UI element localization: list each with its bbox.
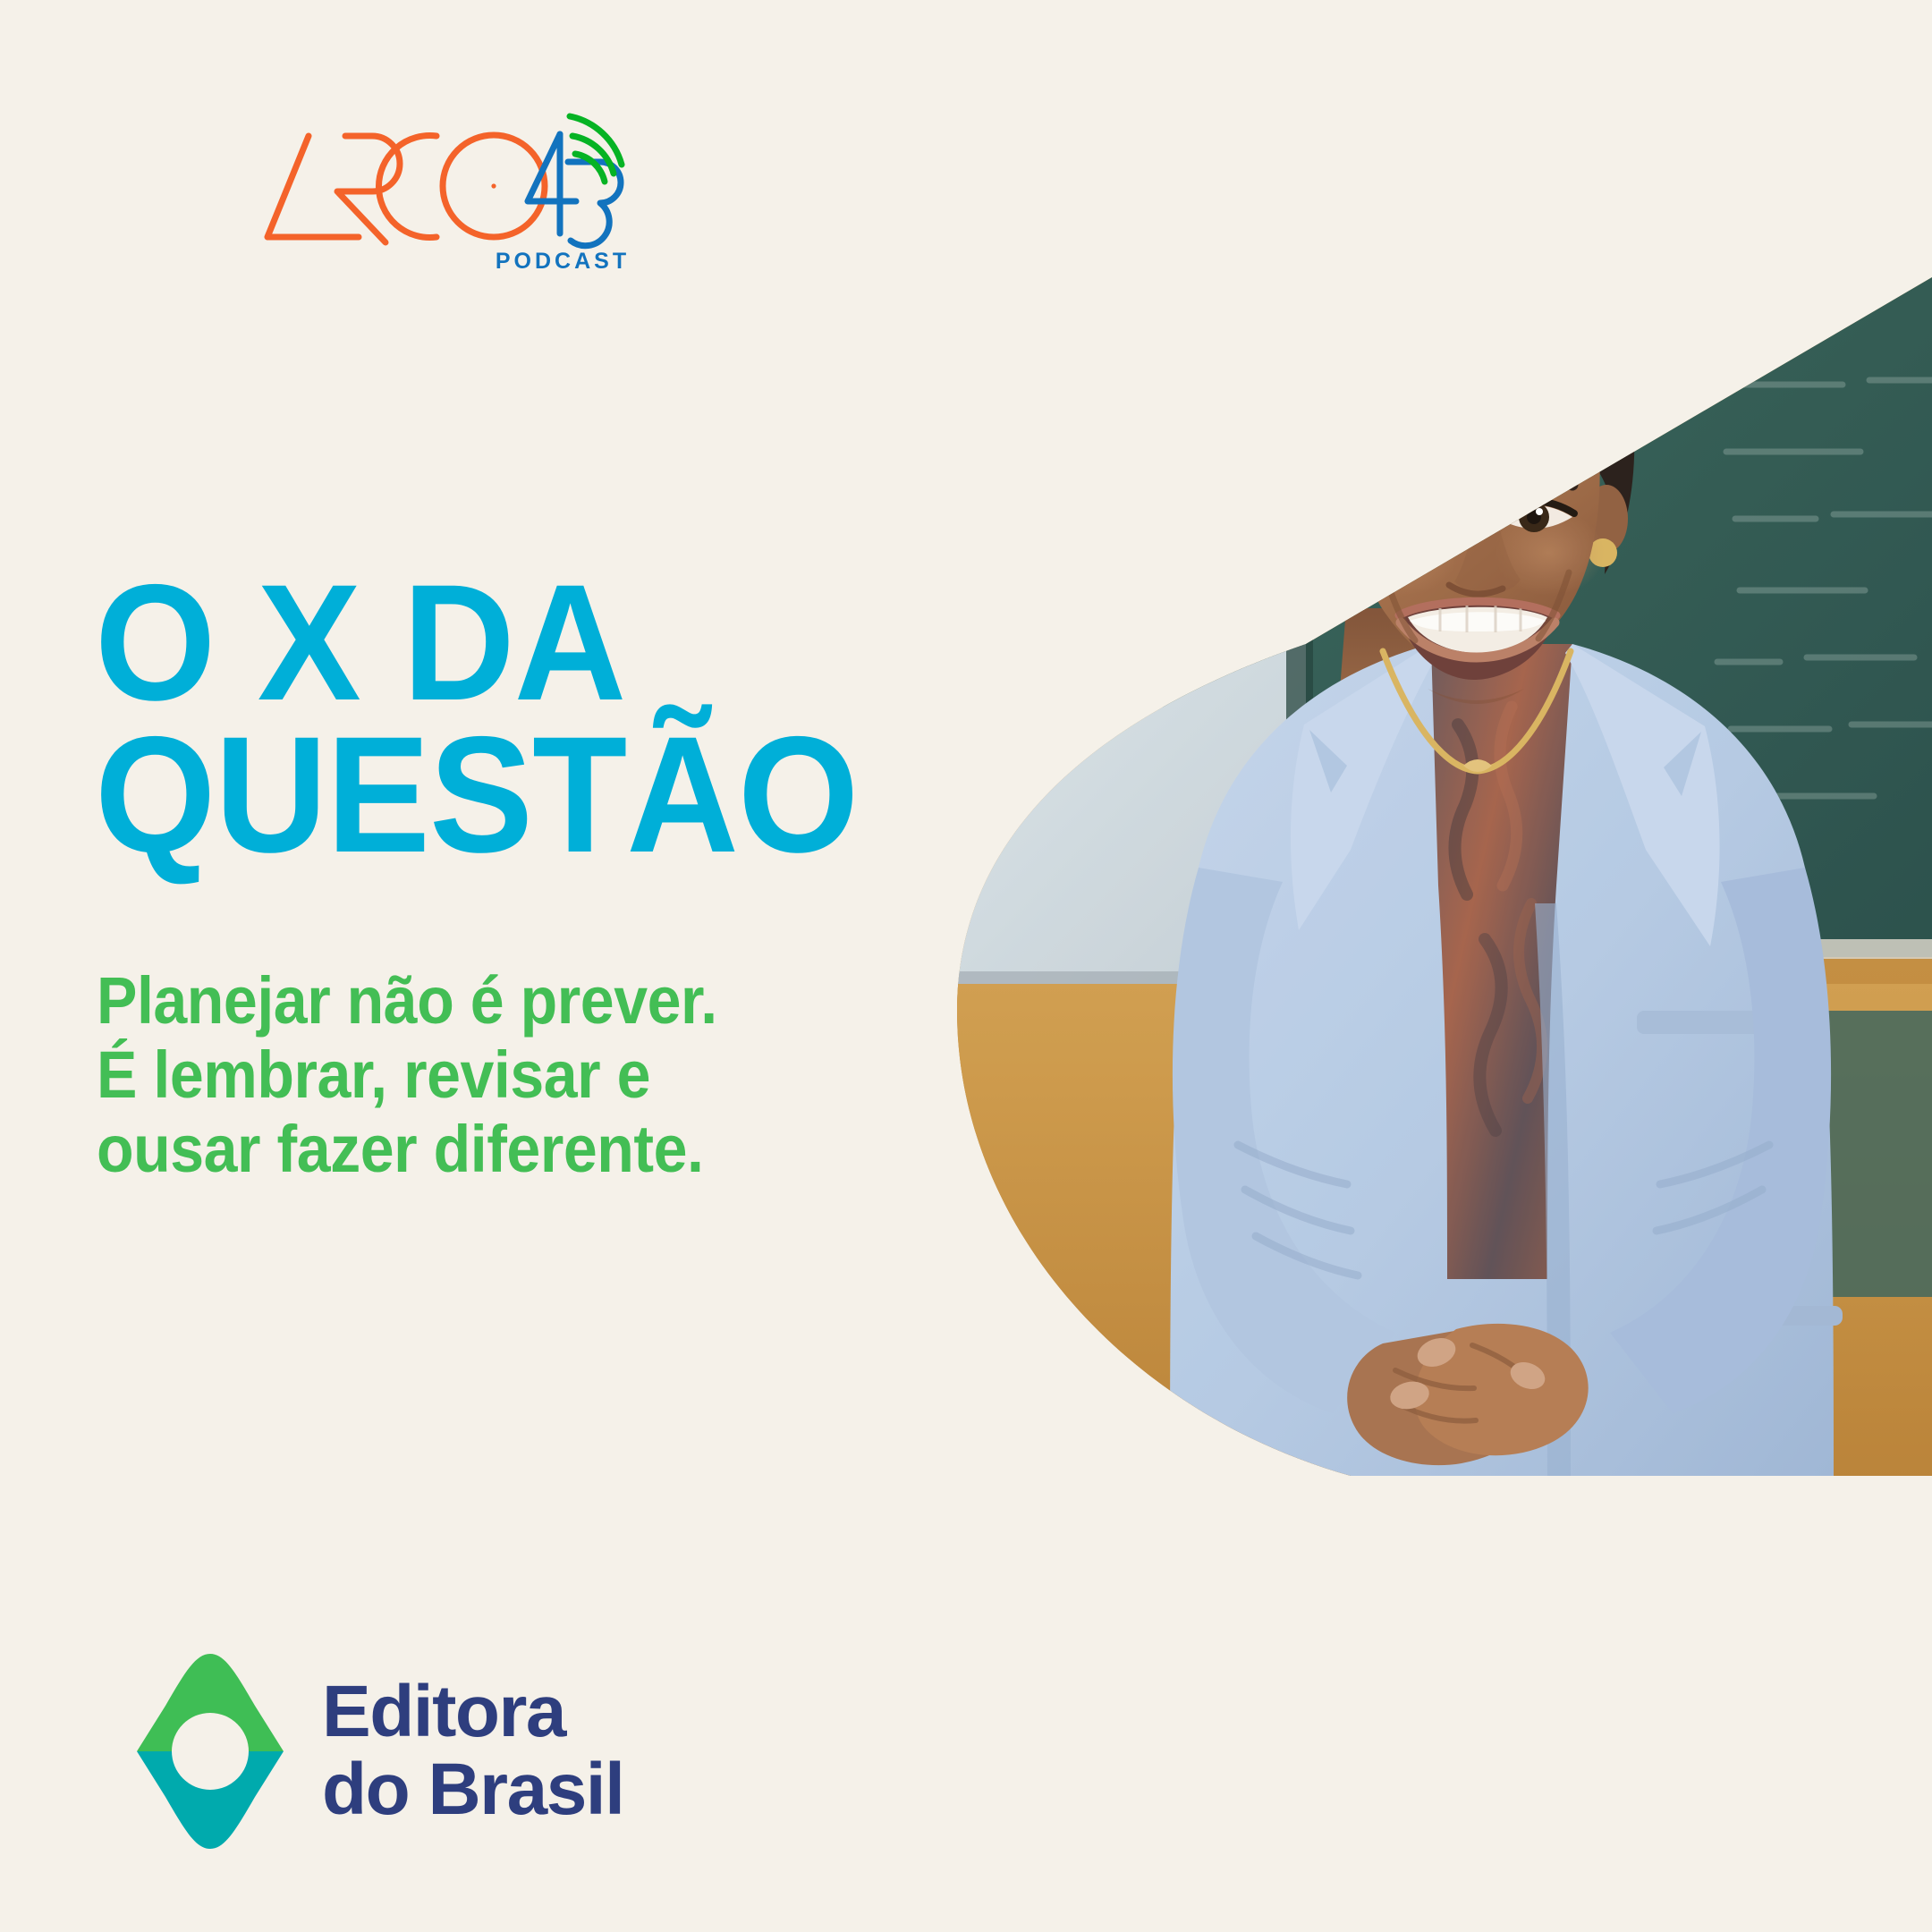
eyebrow-left (1381, 474, 1462, 485)
earring-left (1335, 538, 1363, 567)
brand-name-line-2: do Brasil (322, 1751, 623, 1829)
hairline (1351, 367, 1601, 453)
poster-canvas: PODCAST O X DA QUESTÃO Planejar não é pr… (0, 0, 1932, 1932)
subtitle-line-3: ousar fazer diferente. (97, 1113, 919, 1187)
title-line-1: O X DA (95, 567, 986, 719)
diamond-bottom-half (137, 1751, 284, 1849)
subtitle: Planejar não é prever. É lembrar, revisa… (97, 964, 991, 1187)
subtitle-line-2: É lembrar, revisar e (97, 1038, 919, 1113)
eyebrow-right (1494, 474, 1572, 485)
page-title: O X DA QUESTÃO (95, 567, 1043, 871)
eye-left (1379, 503, 1460, 534)
photo-content (930, 224, 1932, 1476)
diamond-top-half (137, 1654, 284, 1751)
arco-wordmark-icon (267, 135, 545, 242)
editora-diamond-icon (134, 1651, 286, 1851)
teacher-photo (930, 224, 1932, 1476)
editora-do-brasil-logo: Editora do Brasil (134, 1651, 623, 1851)
brand-name-line-1: Editora (322, 1674, 623, 1751)
editora-wordmark: Editora do Brasil (322, 1674, 623, 1829)
signal-waves-icon (570, 116, 622, 182)
subtitle-line-1: Planejar não é prever. (97, 964, 919, 1038)
podcast-caption: PODCAST (496, 249, 630, 274)
title-line-2: QUESTÃO (95, 719, 986, 871)
ear-left (1322, 485, 1365, 553)
arco43-podcast-logo: PODCAST (258, 97, 633, 275)
